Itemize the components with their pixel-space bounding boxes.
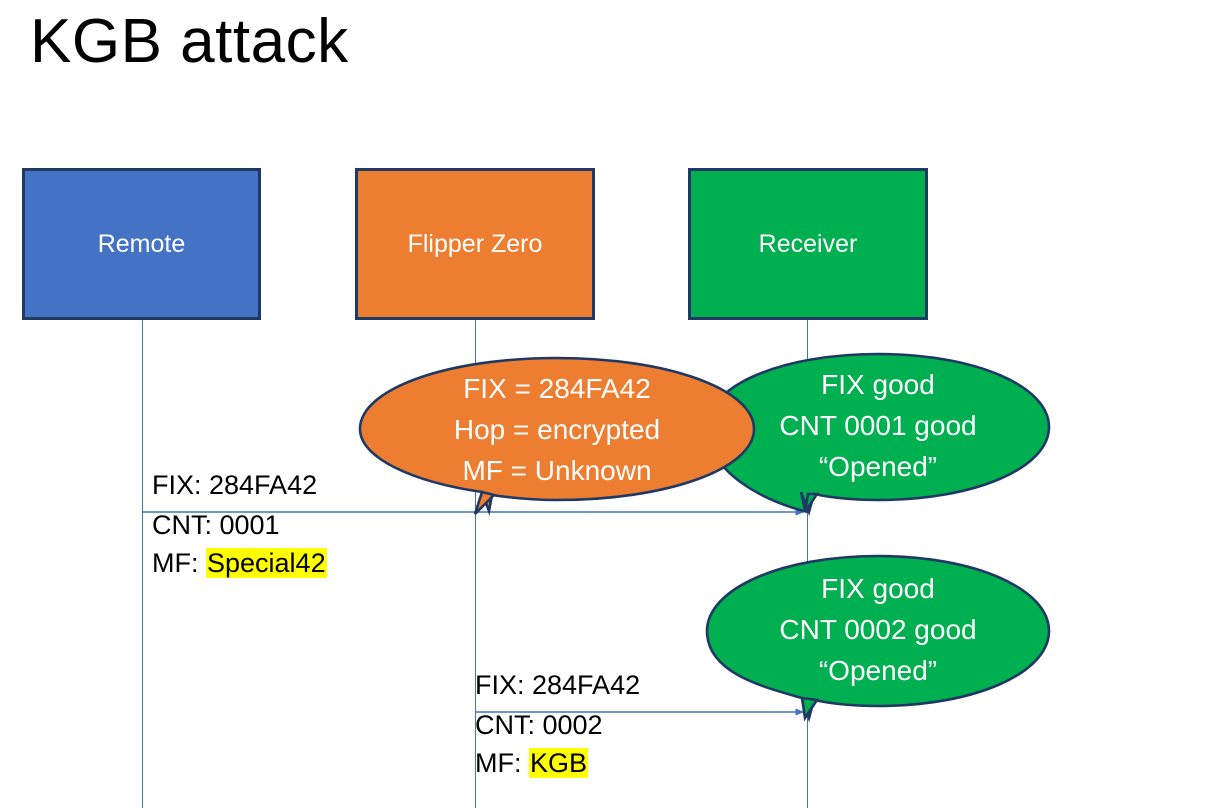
message-1-mf-row: MF: Special42 <box>152 544 327 582</box>
message-2-mf-row: MF: KGB <box>475 744 603 782</box>
page-title: KGB attack <box>30 6 349 77</box>
callout-receiver-2-line-1: FIX good <box>705 568 1051 609</box>
callout-flipper-text: FIX = 284FA42 Hop = encrypted MF = Unkno… <box>358 368 756 491</box>
callout-receiver-1-text: FIX good CNT 0001 good “Opened” <box>705 364 1051 487</box>
callout-receiver-2-text: FIX good CNT 0002 good “Opened” <box>705 568 1051 691</box>
message-1-details: CNT: 0001 MF: Special42 <box>152 506 327 582</box>
message-1-cnt-text: CNT: 0001 <box>152 506 327 544</box>
slide-canvas: KGB attack Remote Flipper Zero Receiver … <box>0 0 1218 808</box>
message-1-mf-label: MF: <box>152 548 206 578</box>
message-1-fix-text: FIX: 284FA42 <box>152 466 317 504</box>
callout-flipper-line-3: MF = Unknown <box>358 450 756 491</box>
callout-flipper: FIX = 284FA42 Hop = encrypted MF = Unkno… <box>358 356 756 508</box>
actor-label-flipper: Flipper Zero <box>408 229 543 259</box>
actor-box-flipper[interactable]: Flipper Zero <box>355 168 595 320</box>
callout-receiver-2-line-3: “Opened” <box>705 650 1051 691</box>
message-2-details: CNT: 0002 MF: KGB <box>475 706 603 782</box>
callout-receiver-1-line-2: CNT 0001 good <box>705 405 1051 446</box>
lifeline-remote <box>142 320 143 808</box>
actor-label-receiver: Receiver <box>759 229 858 259</box>
message-2-fix-label: FIX: 284FA42 <box>475 666 640 704</box>
actor-label-remote: Remote <box>98 229 186 259</box>
message-2-mf-value: KGB <box>529 748 588 778</box>
message-1-fix-label: FIX: 284FA42 <box>152 466 317 504</box>
callout-receiver-1-line-1: FIX good <box>705 364 1051 405</box>
message-1-mf-value: Special42 <box>206 548 327 578</box>
message-2-mf-label: MF: <box>475 748 529 778</box>
message-2-fix-text: FIX: 284FA42 <box>475 666 640 704</box>
callout-flipper-line-2: Hop = encrypted <box>358 409 756 450</box>
callout-flipper-line-1: FIX = 284FA42 <box>358 368 756 409</box>
callout-receiver-1-line-3: “Opened” <box>705 446 1051 487</box>
callout-receiver-2-line-2: CNT 0002 good <box>705 609 1051 650</box>
message-2-cnt-text: CNT: 0002 <box>475 706 603 744</box>
actor-box-receiver[interactable]: Receiver <box>688 168 928 320</box>
callout-receiver-2: FIX good CNT 0002 good “Opened” <box>705 554 1051 712</box>
actor-box-remote[interactable]: Remote <box>22 168 261 320</box>
callout-receiver-1: FIX good CNT 0001 good “Opened” <box>705 352 1051 507</box>
